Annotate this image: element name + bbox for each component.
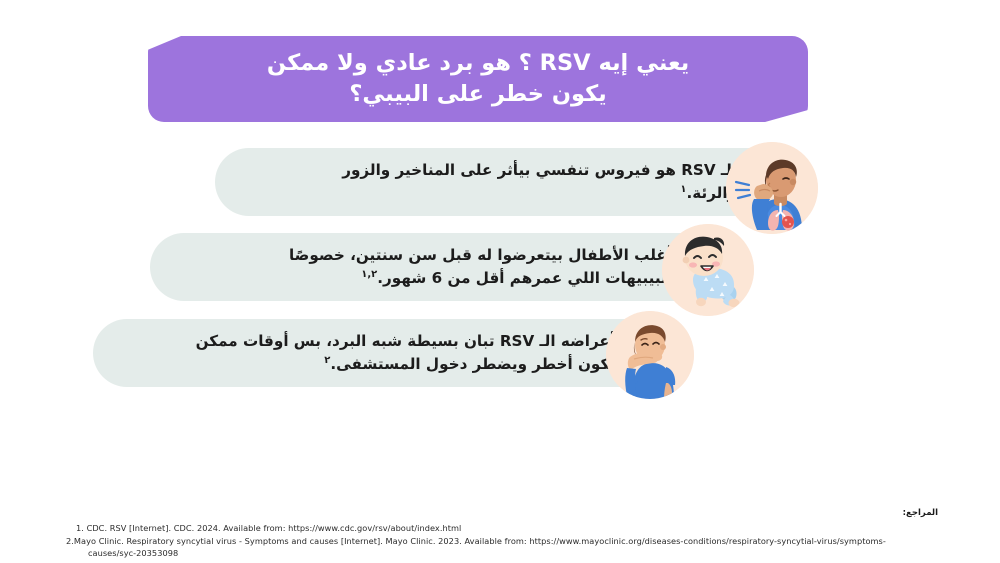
card-symptoms-severity-text: أعراضه الـ RSV تبان بسيطة شبه البرد، بس … <box>93 319 693 387</box>
reference-item-2: 2.Mayo Clinic. Respiratory syncytial vir… <box>66 535 946 560</box>
card-2-superscript: ١,٢ <box>361 269 377 280</box>
card-children-exposure-text: أغلب الأطفال بيتعرضوا له قبل سن سنتين، خ… <box>150 233 750 301</box>
reference-item-1: 1. CDC. RSV [Internet]. CDC. 2024. Avail… <box>66 522 946 535</box>
title-banner-text: يعني إيه RSV ؟ هو برد عادي ولا ممكن يكون… <box>148 36 808 122</box>
coughing-man-lungs-illustration <box>726 142 818 234</box>
title-line-2: يكون خطر على البيبي؟ <box>349 79 606 110</box>
content-row-2: أغلب الأطفال بيتعرضوا له قبل سن سنتين، خ… <box>150 233 750 301</box>
crawling-baby-illustration <box>662 224 754 316</box>
references-label: المراجع: <box>903 508 938 518</box>
card-virus-definition-text: الـ RSV هو فيروس تنفسي بيأثر على المناخي… <box>215 148 815 216</box>
content-row-3: أعراضه الـ RSV تبان بسيطة شبه البرد، بس … <box>93 319 693 387</box>
card-3-body: أعراضه الـ RSV تبان بسيطة شبه البرد، بس … <box>196 332 615 373</box>
reference-item-2-main: 2.Mayo Clinic. Respiratory syncytial vir… <box>66 536 886 546</box>
card-2-body: أغلب الأطفال بيتعرضوا له قبل سن سنتين، خ… <box>289 246 672 287</box>
slide-canvas: يعني إيه RSV ؟ هو برد عادي ولا ممكن يكون… <box>0 0 1000 563</box>
content-row-1: الـ RSV هو فيروس تنفسي بيأثر على المناخي… <box>215 148 815 216</box>
boy-sneezing-into-elbow-illustration <box>606 311 694 399</box>
reference-item-2-continuation: causes/syc-20353098 <box>66 547 946 560</box>
title-line-1: يعني إيه RSV ؟ هو برد عادي ولا ممكن <box>267 48 689 79</box>
references-list: 1. CDC. RSV [Internet]. CDC. 2024. Avail… <box>66 522 946 560</box>
title-banner: يعني إيه RSV ؟ هو برد عادي ولا ممكن يكون… <box>148 36 808 122</box>
card-1-body: الـ RSV هو فيروس تنفسي بيأثر على المناخي… <box>342 161 737 202</box>
